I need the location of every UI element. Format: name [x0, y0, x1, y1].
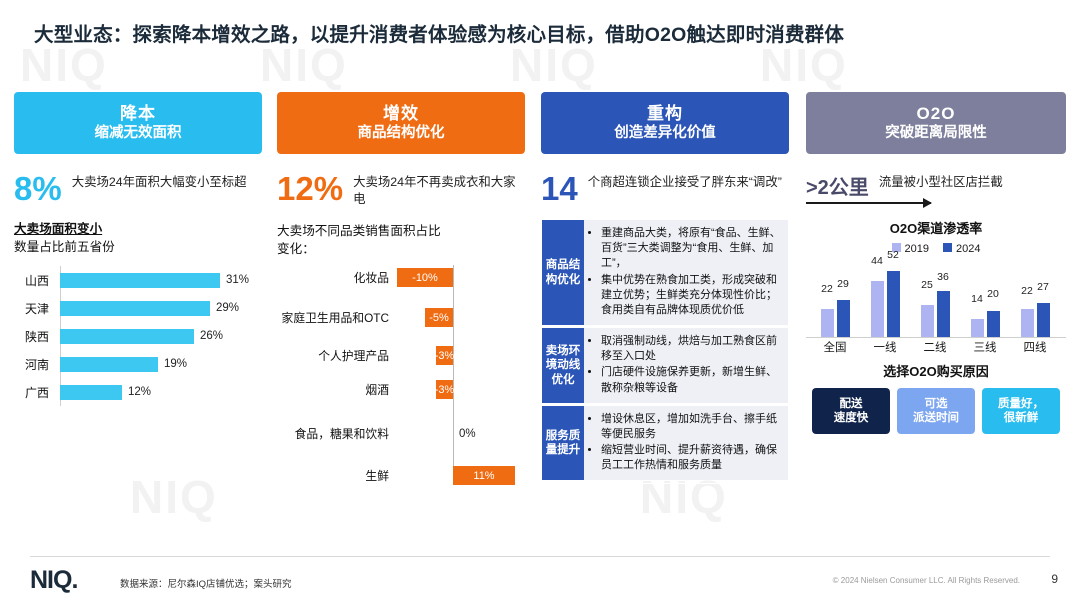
bar-fill: -3% — [436, 346, 453, 365]
bar-fill — [60, 385, 122, 400]
footer: NIQ. 数据来源：尼尔森IQ店铺优选；案头研究 © 2024 Nielsen … — [0, 556, 1080, 608]
stat-number-3: 14 — [541, 172, 578, 205]
list-item: 集中优势在熟食加工类，形成突破和建立优势；生鲜类充分体现性价比；食用类自有品牌体… — [601, 273, 782, 319]
chart-province-bar: 山西 31% 天津 29% 陕西 26% — [14, 266, 262, 406]
bar-category-label: 烟酒 — [279, 381, 395, 398]
bar-value-label: 31% — [226, 274, 249, 286]
bar-track: 31% — [60, 266, 262, 294]
bar-row: 家庭卫生用品和OTC -5% — [277, 305, 525, 331]
column-efficiency: 增效 商品结构优化 12% 大卖场24年不再卖成衣和大家电 大卖场不同品类销售面… — [277, 92, 525, 495]
chart-category-diverging: 化妆品 -10% 家庭卫生用品和OTC -5% 个人护理产品 -3% 烟酒 — [277, 265, 525, 495]
chip-line1: 配送 — [840, 397, 863, 411]
bar-fill-2024 — [937, 291, 950, 337]
stat-row-1: 8% 大卖场24年面积大幅变小至标超 — [14, 172, 262, 205]
chip-line2: 速度快 — [834, 411, 869, 425]
bar-row: 食品，糖果和饮料 0% — [277, 421, 525, 447]
column-header-2: 增效 商品结构优化 — [277, 92, 525, 154]
bar-value-2019: 22 — [1021, 285, 1034, 297]
chart-subhead-2: 大卖场不同品类销售面积占比 变化： — [277, 223, 525, 258]
bar-value-2019: 14 — [971, 293, 984, 305]
o2o-reason-title: 选择O2O购买原因 — [806, 361, 1066, 380]
bar-track: 12% — [60, 378, 262, 406]
header-subtitle-3: 创造差异化价值 — [614, 125, 716, 143]
bar-value-2019: 44 — [871, 255, 884, 267]
bar-value-2024: 36 — [937, 271, 950, 283]
bar-value-label: 12% — [128, 386, 151, 398]
header-title-1: 降本 — [120, 104, 156, 125]
bar-fill-2024 — [1037, 303, 1050, 337]
chart-subhead-2-line1: 大卖场不同品类销售面积占比 — [277, 224, 441, 238]
column-header-3: 重构 创造差异化价值 — [541, 92, 789, 154]
bar-value-label: -3% — [435, 350, 455, 362]
bar-value-2024: 20 — [987, 288, 1000, 300]
stat-number-1: 8% — [14, 172, 62, 205]
bar-value-2019: 25 — [921, 279, 934, 291]
header-subtitle-1: 缩减无效面积 — [95, 125, 182, 143]
column-o2o: O2O 突破距离局限性 >2公里 流量被小型社区店拦截 O2O渠道渗透率 201… — [806, 92, 1066, 434]
reason-chip-delivery-time: 可选 派送时间 — [897, 388, 975, 434]
bar-value-label: -3% — [435, 384, 455, 396]
process-table: 商品结构优化 重建商品大类，将原有“食品、生鲜、百货”三大类调整为“食用、生鲜、… — [541, 219, 789, 484]
chip-line1: 质量好， — [998, 397, 1044, 411]
bar-row: 天津 29% — [14, 294, 262, 322]
list-item: 取消强制动线，烘焙与加工熟食区前移至入口处 — [601, 334, 782, 364]
stat-number-2: 12% — [277, 172, 343, 205]
legend-swatch-icon — [943, 243, 952, 252]
bar-row: 烟酒 -3% — [277, 377, 525, 403]
bar-fill-2024 — [837, 300, 850, 337]
bar-fill-2019 — [971, 319, 984, 337]
bar-category-label: 天津 — [14, 300, 60, 317]
footer-copyright: © 2024 Nielsen Consumer LLC. All Rights … — [833, 576, 1020, 585]
page-title: 大型业态：探索降本增效之路，以提升消费者体验感为核心目标，借助O2O触达即时消费… — [34, 18, 844, 47]
watermark: NIQ — [130, 470, 218, 524]
table-row: 商品结构优化 重建商品大类，将原有“食品、生鲜、百货”三大类调整为“食用、生鲜、… — [542, 220, 788, 325]
bar-value-label: -10% — [412, 272, 438, 284]
header-title-4: O2O — [917, 104, 956, 125]
legend-label: 2024 — [956, 243, 980, 255]
list-item: 增设休息区，增加如洗手台、擦手纸等便民服务 — [601, 412, 782, 442]
legend-item-2024: 2024 — [943, 243, 980, 255]
stat-text-4: 流量被小型社区店拦截 — [879, 172, 1003, 191]
bar-row: 生鲜 11% — [277, 463, 525, 489]
row-label: 商品结构优化 — [542, 220, 584, 325]
chart-subhead-1: 大卖场面积变小 数量占比前五省份 — [14, 221, 262, 256]
column-cost-reduction: 降本 缩减无效面积 8% 大卖场24年面积大幅变小至标超 大卖场面积变小 数量占… — [14, 92, 262, 406]
list-item: 重建商品大类，将原有“食品、生鲜、百货”三大类调整为“食用、生鲜、加工”， — [601, 226, 782, 272]
footer-source: 数据来源：尼尔森IQ店铺优选；案头研究 — [120, 576, 292, 590]
stat-row-4: >2公里 流量被小型社区店拦截 — [806, 172, 1066, 198]
bar-row: 化妆品 -10% — [277, 265, 525, 291]
chart-subhead-1-line2: 数量占比前五省份 — [14, 240, 115, 254]
bar-value-labels: 22 27 — [1006, 285, 1064, 297]
reason-chip-quality: 质量好， 很新鲜 — [982, 388, 1060, 434]
arrow-icon — [806, 202, 931, 204]
stat-text-2: 大卖场24年不再卖成衣和大家电 — [353, 172, 525, 207]
header-title-3: 重构 — [647, 104, 683, 125]
bar-category-label: 广西 — [14, 384, 60, 401]
bar-value-label: 29% — [216, 302, 239, 314]
stat-text-1: 大卖场24年面积大幅变小至标超 — [72, 172, 247, 191]
chart-subhead-2-line2: 变化： — [277, 242, 315, 256]
bar-fill: -10% — [397, 268, 453, 287]
bar-value-label: 26% — [200, 330, 223, 342]
bar-category-label: 山西 — [14, 272, 60, 289]
bar-value-label: 0% — [459, 428, 476, 440]
bar-category-label: 化妆品 — [279, 269, 395, 286]
bar-fill — [60, 329, 194, 344]
stat-text-3: 个商超连锁企业接受了胖东来“调改” — [588, 172, 782, 191]
bar-row: 个人护理产品 -3% — [277, 343, 525, 369]
reason-chips: 配送 速度快 可选 派送时间 质量好， 很新鲜 — [806, 388, 1066, 434]
bar-category-label: 食品，糖果和饮料 — [279, 425, 395, 442]
bar-row: 河南 19% — [14, 350, 262, 378]
header-subtitle-2: 商品结构优化 — [358, 125, 445, 143]
row-label: 服务质量提升 — [542, 406, 584, 481]
bar-row: 陕西 26% — [14, 322, 262, 350]
o2o-chart-title: O2O渠道渗透率 — [806, 218, 1066, 237]
bar-category-label: 家庭卫生用品和OTC — [279, 309, 395, 326]
bar-fill — [60, 357, 158, 372]
header-title-2: 增效 — [383, 104, 419, 125]
arrow-row — [806, 202, 1066, 204]
chip-line1: 可选 — [925, 397, 948, 411]
bar-row: 广西 12% — [14, 378, 262, 406]
legend-label: 2019 — [905, 243, 929, 255]
bar-value-label: 19% — [164, 358, 187, 370]
bar-fill: 11% — [453, 466, 515, 485]
bar-fill: -5% — [425, 308, 453, 327]
bar-category-label: 河南 — [14, 356, 60, 373]
stat-number-4: >2公里 — [806, 172, 869, 198]
bar-value-labels: 44 52 — [856, 255, 914, 267]
stat-row-2: 12% 大卖场24年不再卖成衣和大家电 — [277, 172, 525, 207]
bar-fill — [60, 301, 210, 316]
list-item: 门店硬件设施保养更新，新增生鲜、散称杂粮等设备 — [601, 365, 782, 395]
stat-row-3: 14 个商超连锁企业接受了胖东来“调改” — [541, 172, 789, 205]
bar-value-2024: 52 — [887, 249, 900, 261]
bar-fill-2019 — [921, 305, 934, 337]
row-content: 增设休息区，增加如洗手台、擦手纸等便民服务 缩短营业时间、提升薪资待遇，确保员工… — [584, 406, 788, 481]
bar-category-label: 生鲜 — [279, 467, 395, 484]
bar-track: 26% — [60, 322, 262, 350]
bar-fill — [60, 273, 220, 288]
bar-fill-2019 — [1021, 309, 1034, 337]
bar-category-label: 四线 — [1006, 339, 1064, 355]
bar-fill-2019 — [871, 281, 884, 337]
table-row: 卖场环境动线优化 取消强制动线，烘焙与加工熟食区前移至入口处 门店硬件设施保养更… — [542, 328, 788, 403]
bar-value-label: 11% — [473, 470, 494, 482]
bar-row: 山西 31% — [14, 266, 262, 294]
niq-logo: NIQ. — [30, 566, 77, 595]
footer-divider — [30, 556, 1050, 557]
bar-value-2024: 27 — [1037, 281, 1050, 293]
bar-value-2024: 29 — [837, 278, 850, 290]
row-content: 重建商品大类，将原有“食品、生鲜、百货”三大类调整为“食用、生鲜、加工”， 集中… — [584, 220, 788, 325]
reason-chip-delivery-speed: 配送 速度快 — [812, 388, 890, 434]
chart-subhead-1-line1: 大卖场面积变小 — [14, 222, 102, 236]
bar-category-label: 陕西 — [14, 328, 60, 345]
table-row: 服务质量提升 增设休息区，增加如洗手台、擦手纸等便民服务 缩短营业时间、提升薪资… — [542, 406, 788, 481]
page-number: 9 — [1051, 572, 1058, 586]
chip-line2: 派送时间 — [913, 411, 959, 425]
chip-line2: 很新鲜 — [1004, 411, 1039, 425]
bar-fill: -3% — [436, 380, 453, 399]
row-label: 卖场环境动线优化 — [542, 328, 584, 403]
bar-fill-2024 — [887, 271, 900, 337]
bar-fill-2019 — [821, 309, 834, 337]
chart-o2o-penetration: 22 29 全国 44 52 一线 — [806, 259, 1066, 355]
chart-axis-line — [806, 337, 1066, 338]
row-content: 取消强制动线，烘焙与加工熟食区前移至入口处 门店硬件设施保养更新，新增生鲜、散称… — [584, 328, 788, 403]
column-header-1: 降本 缩减无效面积 — [14, 92, 262, 154]
column-header-4: O2O 突破距离局限性 — [806, 92, 1066, 154]
column-restructure: 重构 创造差异化价值 14 个商超连锁企业接受了胖东来“调改” 商品结构优化 重… — [541, 92, 789, 484]
bar-category-label: 个人护理产品 — [279, 347, 395, 364]
bar-track: 19% — [60, 350, 262, 378]
chart-legend: 2019 2024 — [806, 243, 1066, 255]
header-subtitle-4: 突破距离局限性 — [885, 125, 987, 143]
bar-track: 29% — [60, 294, 262, 322]
bar-value-label: -5% — [429, 312, 449, 324]
bar-group — [1006, 267, 1064, 337]
list-item: 缩短营业时间、提升薪资待遇，确保员工工作热情和服务质量 — [601, 443, 782, 473]
bar-value-2019: 22 — [821, 283, 834, 295]
bar-pair — [1006, 267, 1064, 337]
bar-fill-2024 — [987, 311, 1000, 337]
